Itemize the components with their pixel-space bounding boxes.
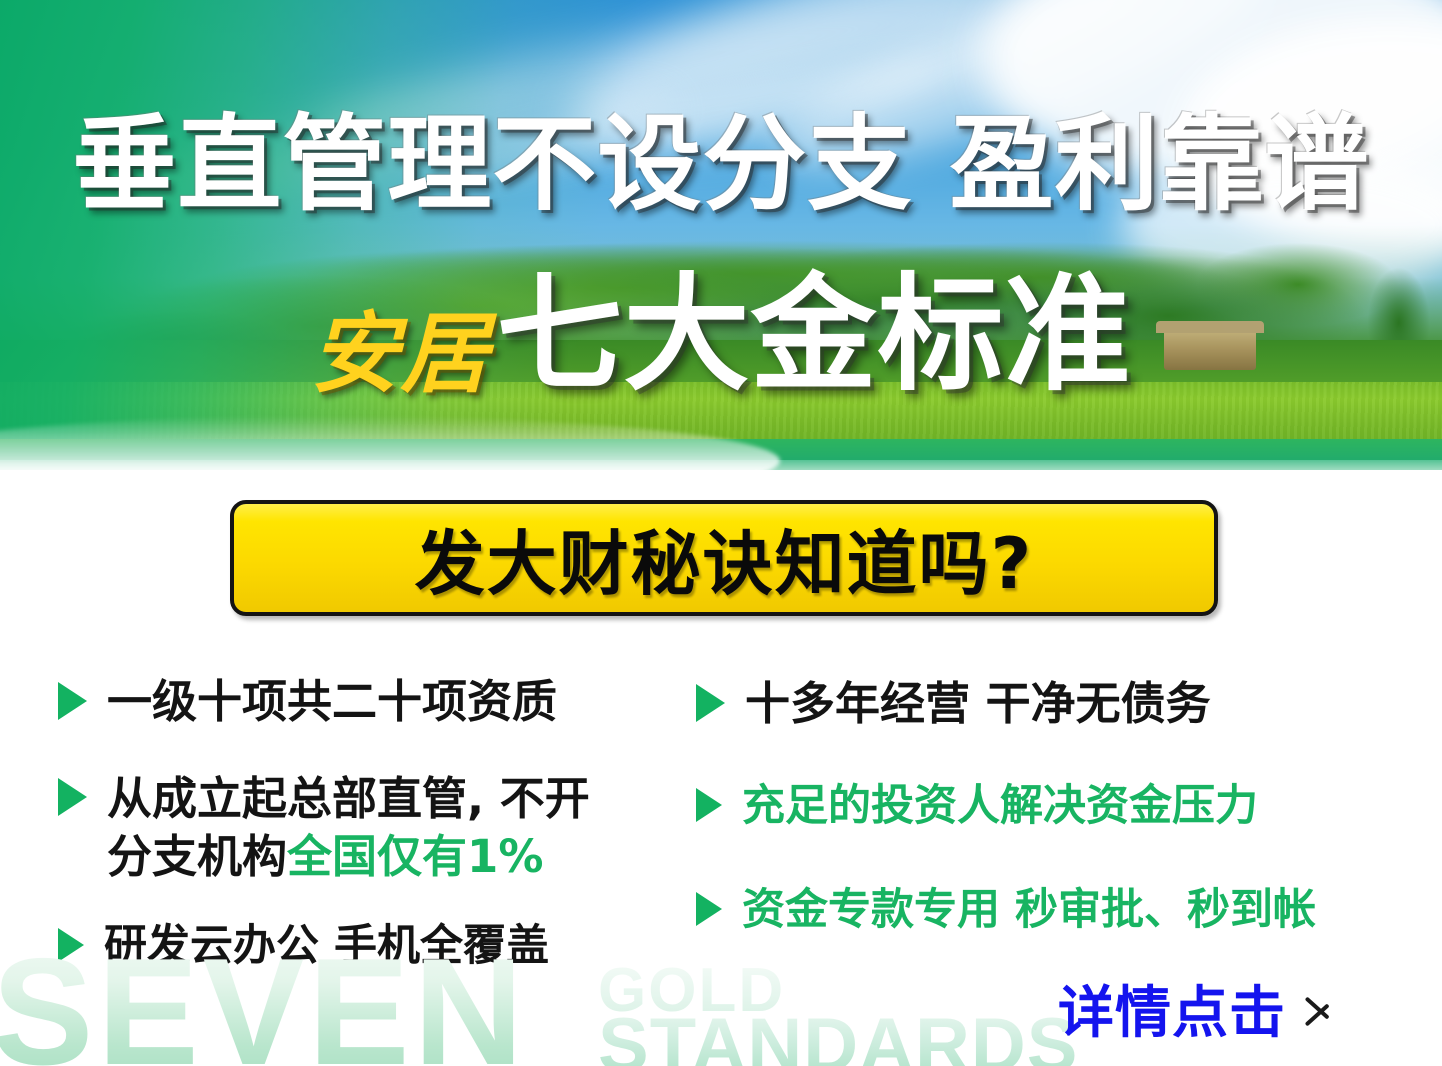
feature-item-right-3: 资金专款专用 秒审批、秒到帐: [696, 884, 1316, 938]
feature-item-right-1: 十多年经营 干净无债务: [696, 676, 1211, 732]
highlight-banner[interactable]: 发大财秘诀知道吗?: [230, 500, 1218, 616]
details-cta-link[interactable]: 详情点击: [1058, 968, 1332, 1049]
hero-headline-primary: 垂直管理不设分支 盈利靠谱: [0, 112, 1442, 216]
feature-item-right-3-label: 资金专款专用 秒审批、秒到帐: [742, 884, 1316, 938]
triangle-right-icon: [696, 684, 725, 722]
feature-item-right-2-label: 充足的投资人解决资金压力: [742, 780, 1258, 834]
chevron-right-icon: [1302, 982, 1332, 1036]
feature-item-right-2: 充足的投资人解决资金压力: [696, 780, 1258, 834]
feature-item-right-1-label: 十多年经营 干净无债务: [745, 676, 1211, 732]
triangle-right-icon: [58, 778, 87, 816]
hero-image: 垂直管理不设分支 盈利靠谱 安居七大金标准: [0, 0, 1442, 470]
feature-item-left-2-line1: 从成立起总部直管, 不开: [107, 772, 590, 825]
feature-item-left-1-label: 一级十项共二十项资质: [107, 674, 557, 730]
hero-headline-secondary: 安居七大金标准: [0, 272, 1442, 410]
details-cta-label: 详情点击: [1058, 968, 1286, 1049]
hero-headline-brand: 安居: [310, 301, 490, 405]
triangle-right-icon: [696, 892, 722, 926]
feature-item-left-3: 研发云办公 手机全覆盖: [58, 920, 549, 974]
promo-banner-page: 垂直管理不设分支 盈利靠谱 安居七大金标准 发大财秘诀知道吗? 一级十项共二十项…: [0, 0, 1442, 1066]
triangle-right-icon: [58, 682, 87, 720]
feature-item-left-2: 从成立起总部直管, 不开分支机构全国仅有1%: [58, 770, 627, 885]
feature-item-left-2-line2-highlight: 全国仅有1%: [287, 830, 543, 883]
feature-item-left-1: 一级十项共二十项资质: [58, 674, 557, 730]
watermark-standards: STANDARDS: [598, 1008, 1078, 1066]
highlight-banner-text: 发大财秘诀知道吗?: [415, 508, 1034, 609]
triangle-right-icon: [58, 928, 84, 962]
feature-columns: 一级十项共二十项资质 从成立起总部直管, 不开分支机构全国仅有1% 研发云办公 …: [0, 662, 1442, 992]
feature-item-left-2-line2-plain: 分支机构: [107, 830, 287, 883]
feature-item-left-3-label: 研发云办公 手机全覆盖: [104, 920, 549, 974]
triangle-right-icon: [696, 788, 722, 822]
feature-item-left-2-label: 从成立起总部直管, 不开分支机构全国仅有1%: [107, 770, 627, 885]
hero-headline-title: 七大金标准: [497, 261, 1132, 408]
